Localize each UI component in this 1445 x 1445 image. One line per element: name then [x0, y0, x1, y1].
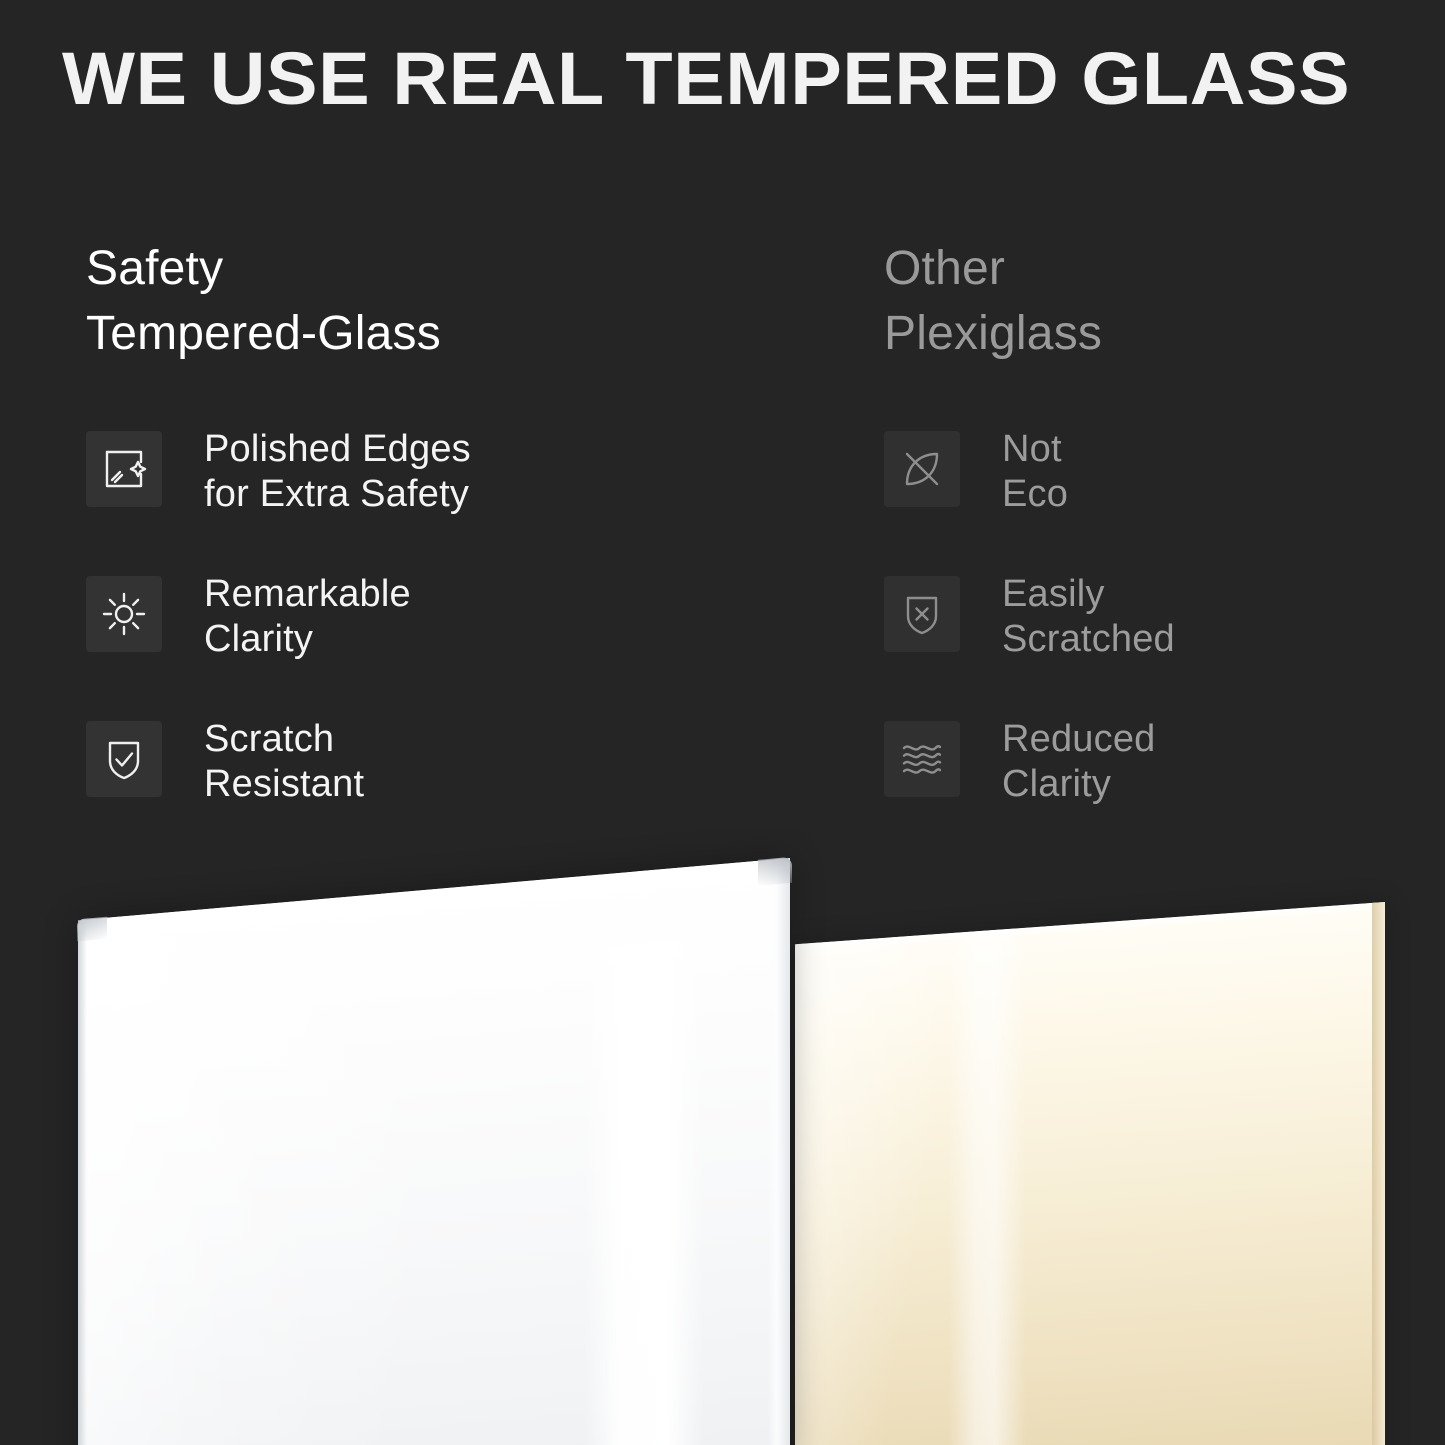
tempered-glass-corner-left [77, 917, 107, 942]
feature-item-scratch-resistant: Scratch Resistant [86, 715, 846, 813]
polished-glass-pane-sparkle-icon [86, 431, 162, 507]
feature-label: Polished Edges for Extra Safety [204, 425, 471, 518]
column-heading-left: Safety Tempered-Glass [86, 236, 846, 367]
page-title: WE USE REAL TEMPERED GLASS [62, 42, 1445, 116]
plexiglass-sheen [948, 928, 1026, 1445]
tempered-glass-sheen [584, 938, 704, 1445]
feature-item-remarkable-clarity: Remarkable Clarity [86, 570, 846, 668]
tempered-glass-left-edge [78, 920, 87, 1445]
feature-item-easily-scratched: Easily Scratched [884, 570, 1424, 668]
product-photo [0, 830, 1445, 1445]
feature-label: Not Eco [1002, 425, 1068, 518]
shield-check-icon [86, 721, 162, 797]
feature-list-left: Polished Edges for Extra Safety Remarkab… [86, 425, 846, 813]
promo-graphic: WE USE REAL TEMPERED GLASS Safety Temper… [0, 0, 1445, 1445]
column-tempered-glass: Safety Tempered-Glass Polished Edges for… [86, 236, 846, 813]
plexiglass-panel [795, 902, 1385, 1445]
plexiglass-right-edge [1372, 902, 1385, 1445]
tempered-glass-right-edge [768, 858, 790, 1445]
tempered-glass-top-edge [78, 858, 790, 931]
feature-item-not-eco: Not Eco [884, 425, 1424, 523]
tempered-glass-corner-right [758, 857, 792, 886]
wavy-lines-blur-icon [884, 721, 960, 797]
feature-list-right: Not Eco Easily Scratched [884, 425, 1424, 813]
feature-label: Easily Scratched [1002, 570, 1175, 663]
shield-x-icon [884, 576, 960, 652]
feature-label: Remarkable Clarity [204, 570, 411, 663]
column-heading-right: Other Plexiglass [884, 236, 1424, 367]
tempered-glass-panel [78, 858, 790, 1445]
leaf-crossed-out-icon [884, 431, 960, 507]
feature-item-polished-edges: Polished Edges for Extra Safety [86, 425, 846, 523]
plexiglass-top-edge [795, 902, 1385, 953]
sun-brightness-icon [86, 576, 162, 652]
feature-label: Reduced Clarity [1002, 715, 1156, 808]
feature-label: Scratch Resistant [204, 715, 364, 808]
feature-item-reduced-clarity: Reduced Clarity [884, 715, 1424, 813]
column-plexiglass: Other Plexiglass Not Eco [884, 236, 1424, 813]
